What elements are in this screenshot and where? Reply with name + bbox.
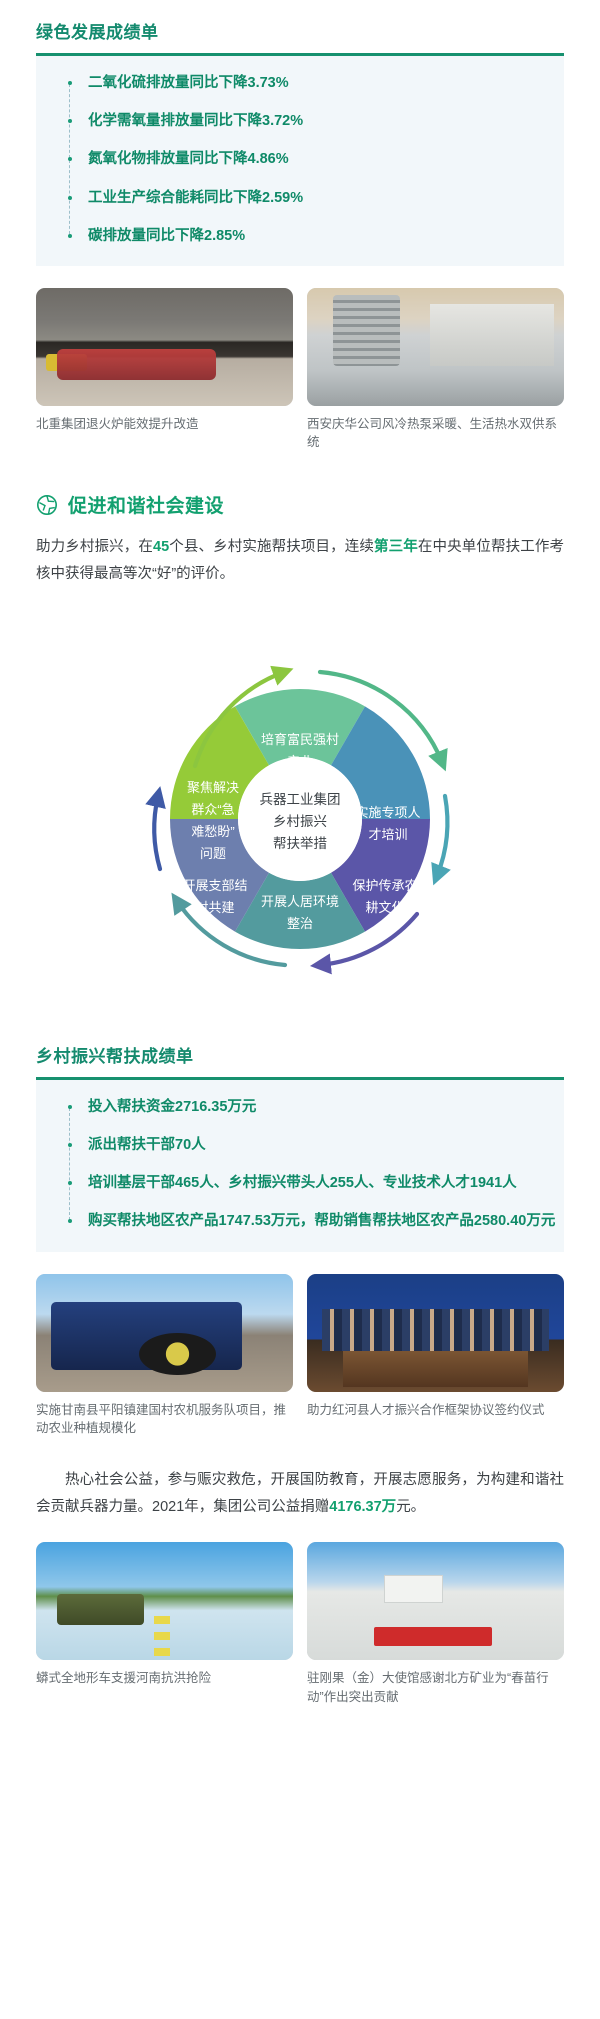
slice-label-2-line-0: 保护传承农 [352, 878, 417, 893]
para-highlight-counties: 45 [153, 539, 169, 555]
green-scorecard-list: 二氧化硫排放量同比下降3.73% 化学需氧量排放量同比下降3.72% 氮氧化物排… [36, 72, 564, 248]
arrow-right [437, 796, 447, 876]
rural-scorecard-title: 乡村振兴帮扶成绩单 [36, 1042, 564, 1077]
photo-caption: 助力红河县人才振兴合作框架协议签约仪式 [307, 1401, 564, 1419]
list-item: 氮氧化物排放量同比下降4.86% [66, 148, 564, 171]
list-item: 二氧化硫排放量同比下降3.73% [66, 72, 564, 95]
rural-scorecard-body: 投入帮扶资金2716.35万元 派出帮扶干部70人 培训基层干部465人、乡村振… [36, 1080, 564, 1252]
photo-caption: 实施甘南县平阳镇建国村农机服务队项目，推动农业种植规模化 [36, 1401, 293, 1437]
slice-label-0-line-1: 产业 [287, 754, 313, 769]
center-line-1: 乡村振兴 [273, 814, 327, 829]
photo-art [36, 288, 293, 406]
photo-annealing-furnace [36, 288, 293, 406]
para-mid: 个县、乡村实施帮扶项目，连续 [169, 539, 374, 555]
society-section-heading: 促进和谐社会建设 [36, 491, 564, 518]
photo-art [307, 288, 564, 406]
section-title: 促进和谐社会建设 [68, 491, 224, 518]
list-item: 购买帮扶地区农产品1747.53万元，帮助销售帮扶地区农产品2580.40万元 [66, 1210, 564, 1233]
list-item: 培训基层干部465人、乡村振兴带头人255人、专业技术人才1941人 [66, 1172, 564, 1195]
list-item: 化学需氧量排放量同比下降3.72% [66, 110, 564, 133]
list-item: 派出帮扶干部70人 [66, 1134, 564, 1157]
photo-vaccination-site [307, 1542, 564, 1660]
slice-label-4-line-1: 对共建 [195, 900, 234, 915]
photo-cell: 北重集团退火炉能效提升改造 [36, 288, 293, 451]
slice-label-5-line-0: 聚焦解决 [187, 780, 239, 795]
slice-label-2-line-1: 耕文化 [365, 900, 404, 915]
photo-signing-ceremony [307, 1274, 564, 1392]
photo-cell: 驻刚果（金）大使馆感谢北方矿业为“春苗行动”作出突出贡献 [307, 1542, 564, 1705]
society-paragraph: 助力乡村振兴，在45个县、乡村实施帮扶项目，连续第三年在中央单位帮扶工作考核中获… [36, 534, 564, 588]
center-line-2: 帮扶举措 [273, 836, 327, 851]
slice-label-5-line-2: 难愁盼” [191, 824, 234, 839]
para-prefix: 助力乡村振兴，在 [36, 539, 153, 555]
photo-caption: 北重集团退火炉能效提升改造 [36, 415, 293, 433]
globe-people-icon [36, 494, 58, 516]
green-scorecard-title: 绿色发展成绩单 [36, 18, 564, 53]
rural-scorecard-list: 投入帮扶资金2716.35万元 派出帮扶干部70人 培训基层干部465人、乡村振… [36, 1096, 564, 1234]
photo-art [36, 1274, 293, 1392]
photo-art [307, 1542, 564, 1660]
slice-label-5-line-3: 问题 [200, 846, 226, 861]
center-line-0: 兵器工业集团 [260, 792, 341, 807]
rural-revitalization-scorecard: 乡村振兴帮扶成绩单 投入帮扶资金2716.35万元 派出帮扶干部70人 培训基层… [36, 1042, 564, 1252]
slice-label-4-line-0: 开展支部结 [182, 878, 247, 893]
charity-paragraph: 热心社会公益，参与赈灾救危，开展国防教育，开展志愿服务，为构建和谐社会贡献兵器力… [36, 1467, 564, 1521]
photo-cell: 助力红河县人才振兴合作框架协议签约仪式 [307, 1274, 564, 1437]
slice-label-1-line-0: 实施专项人 [355, 805, 420, 820]
green-photo-row: 北重集团退火炉能效提升改造 西安庆华公司风冷热泵采暖、生活热水双供系统 [36, 288, 564, 451]
list-item: 碳排放量同比下降2.85% [66, 225, 564, 248]
photo-air-source-heat-pump [307, 288, 564, 406]
donut-svg: 培育富民强村 产业 实施专项人 才培训 保护传承农 耕文化 开展人居环境 整治 … [100, 614, 500, 1014]
photo-caption: 蟒式全地形车支援河南抗洪抢险 [36, 1669, 293, 1687]
slice-label-3-line-0: 开展人居环境 [261, 894, 339, 909]
photo-tractor-fleet [36, 1274, 293, 1392]
charity-photo-row: 蟒式全地形车支援河南抗洪抢险 驻刚果（金）大使馆感谢北方矿业为“春苗行动”作出突… [36, 1542, 564, 1705]
charity-donation-amount: 4176.37万 [329, 1499, 396, 1515]
charity-para-suffix: 元。 [396, 1499, 425, 1515]
list-item: 投入帮扶资金2716.35万元 [66, 1096, 564, 1119]
photo-art [36, 1542, 293, 1660]
green-scorecard-body: 二氧化硫排放量同比下降3.73% 化学需氧量排放量同比下降3.72% 氮氧化物排… [36, 56, 564, 266]
arrow-left [154, 796, 160, 869]
photo-caption: 西安庆华公司风冷热泵采暖、生活热水双供系统 [307, 415, 564, 451]
photo-cell: 西安庆华公司风冷热泵采暖、生活热水双供系统 [307, 288, 564, 451]
page-root: 绿色发展成绩单 二氧化硫排放量同比下降3.73% 化学需氧量排放量同比下降3.7… [0, 18, 600, 1706]
list-item: 工业生产综合能耗同比下降2.59% [66, 187, 564, 210]
photo-art [307, 1274, 564, 1392]
slice-label-0-line-0: 培育富民强村 [261, 732, 339, 747]
green-development-scorecard: 绿色发展成绩单 二氧化硫排放量同比下降3.73% 化学需氧量排放量同比下降3.7… [36, 18, 564, 266]
charity-para-prefix: 热心社会公益，参与赈灾救危，开展国防教育，开展志愿服务，为构建和谐社会贡献兵器力… [36, 1472, 564, 1515]
rural-photo-row: 实施甘南县平阳镇建国村农机服务队项目，推动农业种植规模化 助力红河县人才振兴合作… [36, 1274, 564, 1437]
slice-label-3-line-1: 整治 [287, 916, 313, 931]
photo-amphibious-vehicle-flood [36, 1542, 293, 1660]
photo-caption: 驻刚果（金）大使馆感谢北方矿业为“春苗行动”作出突出贡献 [307, 1669, 564, 1705]
photo-cell: 实施甘南县平阳镇建国村农机服务队项目，推动农业种植规模化 [36, 1274, 293, 1437]
rural-revitalization-donut-chart: 培育富民强村 产业 实施专项人 才培训 保护传承农 耕文化 开展人居环境 整治 … [36, 614, 564, 1014]
slice-label-1-line-1: 才培训 [368, 827, 407, 842]
para-highlight-third-year: 第三年 [374, 539, 418, 555]
photo-cell: 蟒式全地形车支援河南抗洪抢险 [36, 1542, 293, 1705]
slice-label-5-line-1: 群众“急 [191, 802, 234, 817]
